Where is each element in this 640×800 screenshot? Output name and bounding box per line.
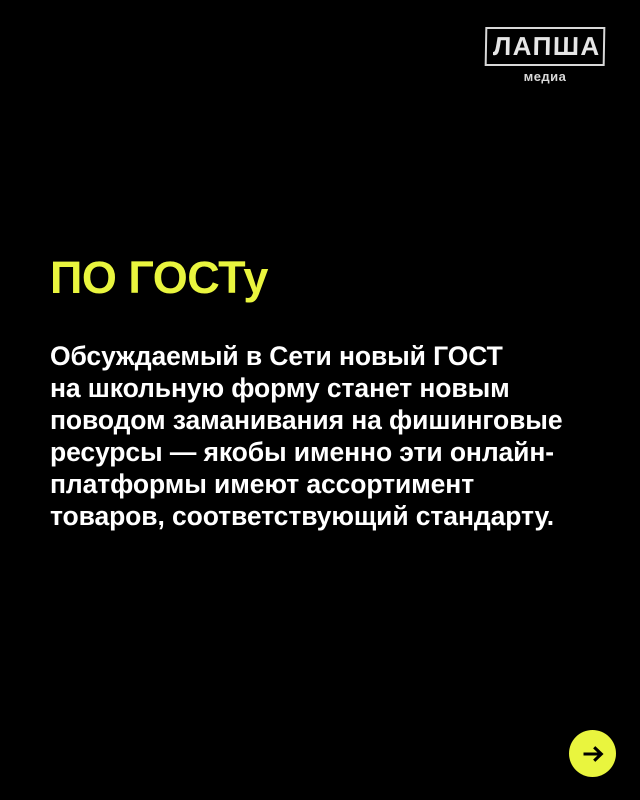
logo-wordmark: ЛАПША [485, 27, 606, 66]
slide-card: ЛАПША медиа ПО ГОСТу Обсуждаемый в Сети … [0, 0, 640, 800]
body-line: Обсуждаемый в Сети новый ГОСТ [50, 340, 602, 372]
body-paragraph: Обсуждаемый в Сети новый ГОСТ на школьну… [50, 340, 602, 532]
logo-subtitle: медиа [485, 70, 605, 83]
body-line: платформы имеют ассортимент [50, 468, 602, 500]
arrow-right-icon [579, 740, 607, 768]
next-slide-button[interactable] [569, 730, 616, 777]
page-title: ПО ГОСТу [50, 255, 268, 300]
body-line: ресурсы — якобы именно эти онлайн- [50, 436, 602, 468]
body-line: поводом заманивания на фишинговые [50, 404, 602, 436]
brand-logo: ЛАПША медиа [485, 27, 605, 83]
body-line: на школьную форму станет новым [50, 372, 602, 404]
body-line: товаров, соответствующий стандарту. [50, 500, 602, 532]
